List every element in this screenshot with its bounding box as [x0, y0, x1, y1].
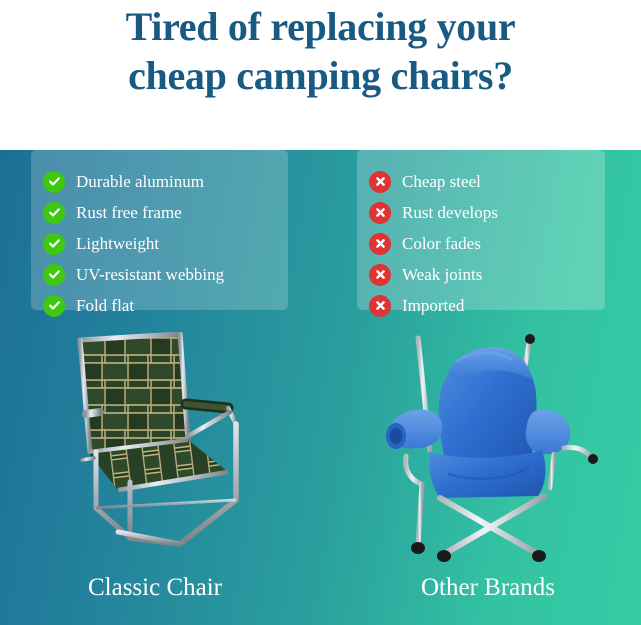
list-item-label: Imported	[402, 296, 464, 316]
infographic-root: Tired of replacing your cheap camping ch…	[0, 0, 641, 625]
list-item-label: Durable aluminum	[76, 172, 204, 192]
page-title: Tired of replacing your cheap camping ch…	[0, 2, 641, 100]
pros-panel: Durable aluminum Rust free frame Lightwe…	[31, 150, 288, 310]
list-item-label: Lightweight	[76, 234, 159, 254]
cons-list: Cheap steel Rust develops Color fades We…	[357, 150, 605, 321]
blue-fabric-camping-chair-image	[378, 332, 608, 564]
headline-line-2: cheap camping chairs?	[0, 51, 641, 100]
list-item: Rust free frame	[43, 197, 288, 228]
list-item: Fold flat	[43, 290, 288, 321]
check-circle-icon	[43, 233, 65, 255]
list-item: Lightweight	[43, 228, 288, 259]
cross-circle-icon	[369, 233, 391, 255]
list-item-label: Rust free frame	[76, 203, 182, 223]
list-item: Rust develops	[369, 197, 605, 228]
list-item: Color fades	[369, 228, 605, 259]
list-item: UV-resistant webbing	[43, 259, 288, 290]
cross-circle-icon	[369, 171, 391, 193]
list-item-label: Color fades	[402, 234, 481, 254]
check-circle-icon	[43, 202, 65, 224]
cross-circle-icon	[369, 264, 391, 286]
list-item-label: Fold flat	[76, 296, 134, 316]
pros-list: Durable aluminum Rust free frame Lightwe…	[31, 150, 288, 321]
check-circle-icon	[43, 264, 65, 286]
aluminum-webbed-lawn-chair-image	[60, 332, 275, 564]
product-caption-right: Other Brands	[373, 572, 603, 604]
list-item-label: Weak joints	[402, 265, 482, 285]
list-item: Imported	[369, 290, 605, 321]
list-item-label: UV-resistant webbing	[76, 265, 224, 285]
cons-panel: Cheap steel Rust develops Color fades We…	[357, 150, 605, 310]
product-caption-left: Classic Chair	[40, 572, 270, 604]
list-item-label: Rust develops	[402, 203, 498, 223]
list-item: Durable aluminum	[43, 166, 288, 197]
check-circle-icon	[43, 295, 65, 317]
list-item-label: Cheap steel	[402, 172, 481, 192]
cross-circle-icon	[369, 202, 391, 224]
check-circle-icon	[43, 171, 65, 193]
list-item: Cheap steel	[369, 166, 605, 197]
headline-line-1: Tired of replacing your	[126, 4, 516, 49]
list-item: Weak joints	[369, 259, 605, 290]
cross-circle-icon	[369, 295, 391, 317]
